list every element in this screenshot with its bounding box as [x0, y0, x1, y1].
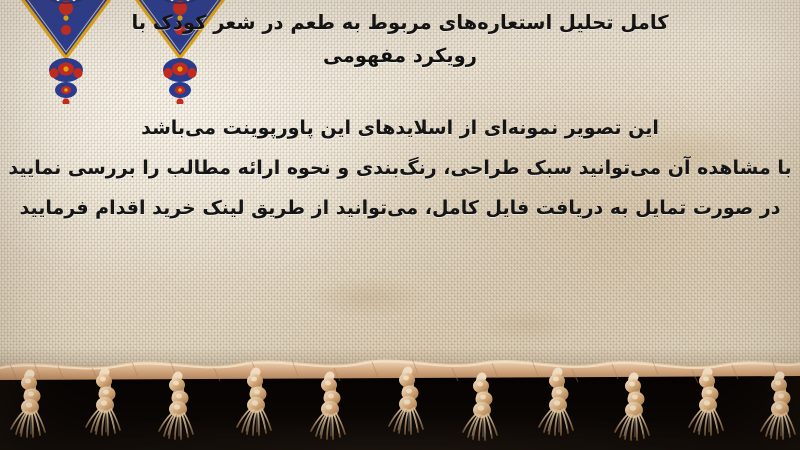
- body-line-1: این تصویر نمونه‌ای از اسلایدهای این پاور…: [0, 108, 800, 148]
- slide-title-line-1: کامل تحلیل استعاره‌های مربوط به طعم در ش…: [131, 11, 668, 34]
- body-line-3: در صورت تمایل به دریافت فایل کامل، می‌تو…: [0, 188, 800, 228]
- slide-title-line-2: رویکرد مفهومی: [0, 39, 800, 72]
- body-line-2: با مشاهده آن می‌توانید سبک طراحی، رنگ‌بن…: [0, 148, 800, 188]
- tassel-fringe: [0, 352, 800, 386]
- presentation-slide: کامل تحلیل استعاره‌های مربوط به طعم در ش…: [0, 0, 800, 450]
- slide-body: این تصویر نمونه‌ای از اسلایدهای این پاور…: [0, 108, 800, 228]
- slide-title: کامل تحلیل استعاره‌های مربوط به طعم در ش…: [0, 6, 800, 72]
